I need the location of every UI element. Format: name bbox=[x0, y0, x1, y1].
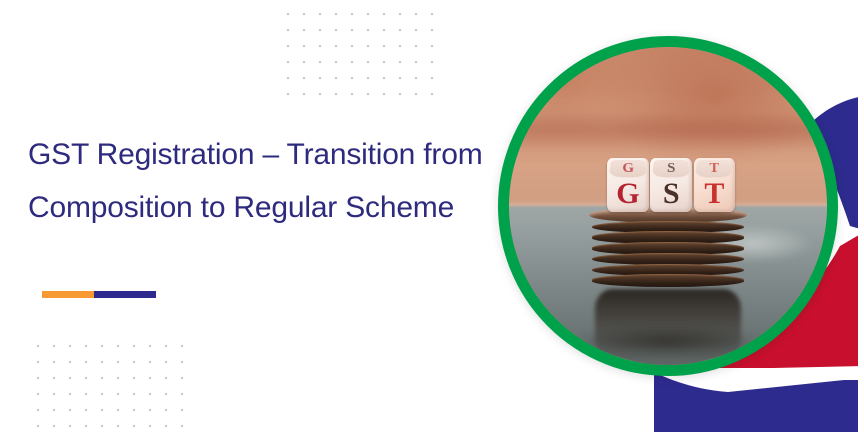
accent-bar-navy-segment bbox=[94, 291, 156, 298]
die-s-top-letter: S bbox=[667, 162, 676, 176]
die-t: T T bbox=[694, 158, 735, 212]
title-block: GST Registration – Transition from Compo… bbox=[28, 128, 484, 235]
die-g: G G bbox=[607, 158, 648, 212]
gst-photo: G G S S T T bbox=[509, 47, 827, 365]
coin-stack bbox=[592, 209, 745, 292]
page-title: GST Registration – Transition from Compo… bbox=[28, 128, 484, 235]
coin-stack-reflection bbox=[595, 289, 741, 359]
die-t-top-face: T bbox=[695, 160, 735, 178]
die-g-letter: G bbox=[616, 179, 639, 213]
die-s-letter: S bbox=[663, 179, 680, 213]
coin bbox=[592, 274, 745, 286]
navy-ribbon-bottom bbox=[654, 372, 864, 432]
die-g-top-letter: G bbox=[622, 162, 635, 176]
accent-bar-orange-segment bbox=[42, 291, 94, 298]
die-s: S S bbox=[650, 158, 691, 212]
gst-banner: GST Registration – Transition from Compo… bbox=[0, 0, 864, 432]
white-right-edge-mask bbox=[858, 0, 864, 432]
dot-grid-top-decoration bbox=[278, 4, 446, 102]
gst-photo-circle: G G S S T T bbox=[498, 36, 838, 376]
photo-background-band bbox=[509, 111, 827, 152]
die-t-top-letter: T bbox=[709, 162, 720, 176]
die-g-top-face: G bbox=[608, 160, 648, 178]
die-t-letter: T bbox=[704, 179, 724, 213]
dot-grid-bottom-decoration bbox=[28, 336, 196, 432]
die-s-top-face: S bbox=[651, 160, 691, 178]
accent-bar bbox=[42, 291, 156, 298]
gst-dice-row: G G S S T T bbox=[604, 158, 738, 212]
